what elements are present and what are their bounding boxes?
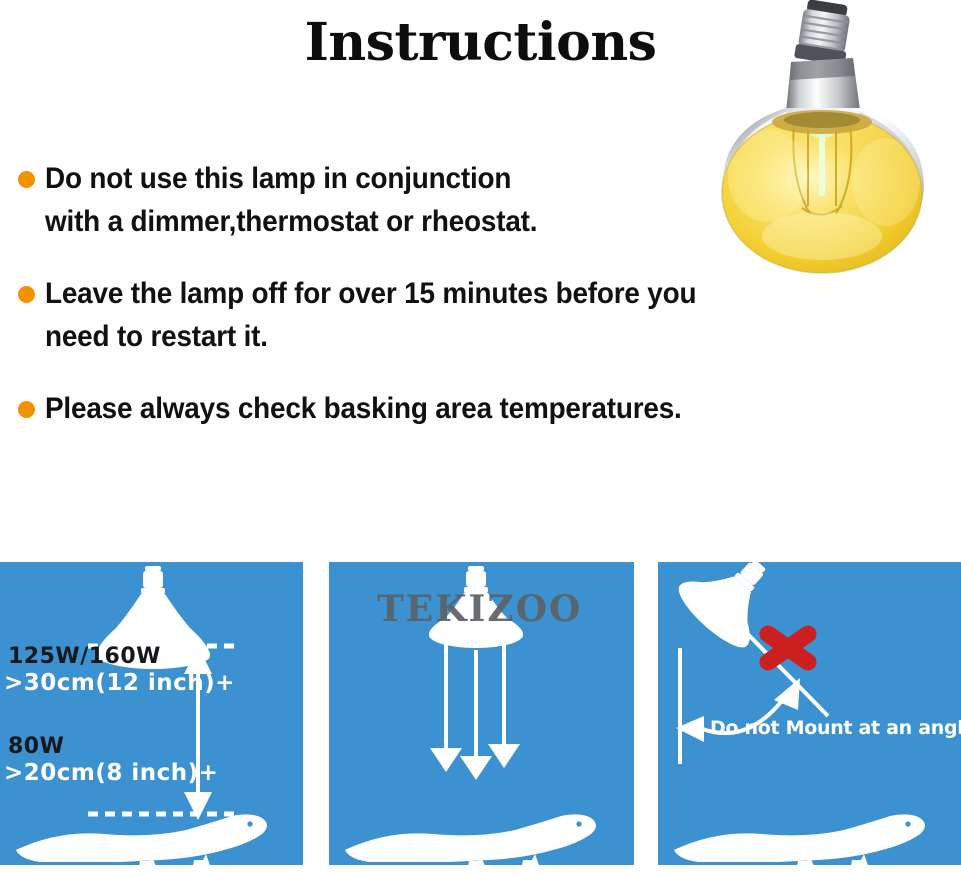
lizard-silhouette-icon xyxy=(16,814,267,865)
instructions-page: Instructions xyxy=(0,0,961,874)
label-wattage-high: 125W/160W xyxy=(8,644,161,669)
list-item: Please always check basking area tempera… xyxy=(18,388,918,431)
lizard-silhouette-icon xyxy=(345,814,596,865)
instruction-list: Do not use this lamp in conjunction with… xyxy=(18,158,918,461)
label-distance-low: >20cm(8 inch)+ xyxy=(4,760,218,786)
forbidden-x-icon xyxy=(768,634,808,662)
brand-watermark: TEKIZOO xyxy=(377,588,582,630)
caption-do-not-angle: Do not Mount at an angle xyxy=(710,717,961,739)
light-ray-arrows xyxy=(430,642,520,780)
bullet-dot-icon xyxy=(18,171,35,188)
instruction-text: Do not use this lamp in conjunction with… xyxy=(45,158,537,243)
panel-do-not-angle: Do not Mount at an angle xyxy=(658,562,961,865)
label-distance-high: >30cm(12 inch)+ xyxy=(4,670,235,696)
label-wattage-low: 80W xyxy=(8,734,64,759)
list-item: Leave the lamp off for over 15 minutes b… xyxy=(18,273,918,358)
lizard-silhouette-icon xyxy=(674,814,925,865)
bullet-dot-icon xyxy=(18,401,35,418)
panel-straight-mounting: TEKIZOO xyxy=(329,562,634,865)
instruction-text: Please always check basking area tempera… xyxy=(45,388,682,431)
list-item: Do not use this lamp in conjunction with… xyxy=(18,158,918,243)
diagram-panel-row: 125W/160W >30cm(12 inch)+ 80W >20cm(8 in… xyxy=(0,562,961,865)
panel-mounting-height: 125W/160W >30cm(12 inch)+ 80W >20cm(8 in… xyxy=(0,562,303,865)
instruction-text: Leave the lamp off for over 15 minutes b… xyxy=(45,273,696,358)
bullet-dot-icon xyxy=(18,286,35,303)
